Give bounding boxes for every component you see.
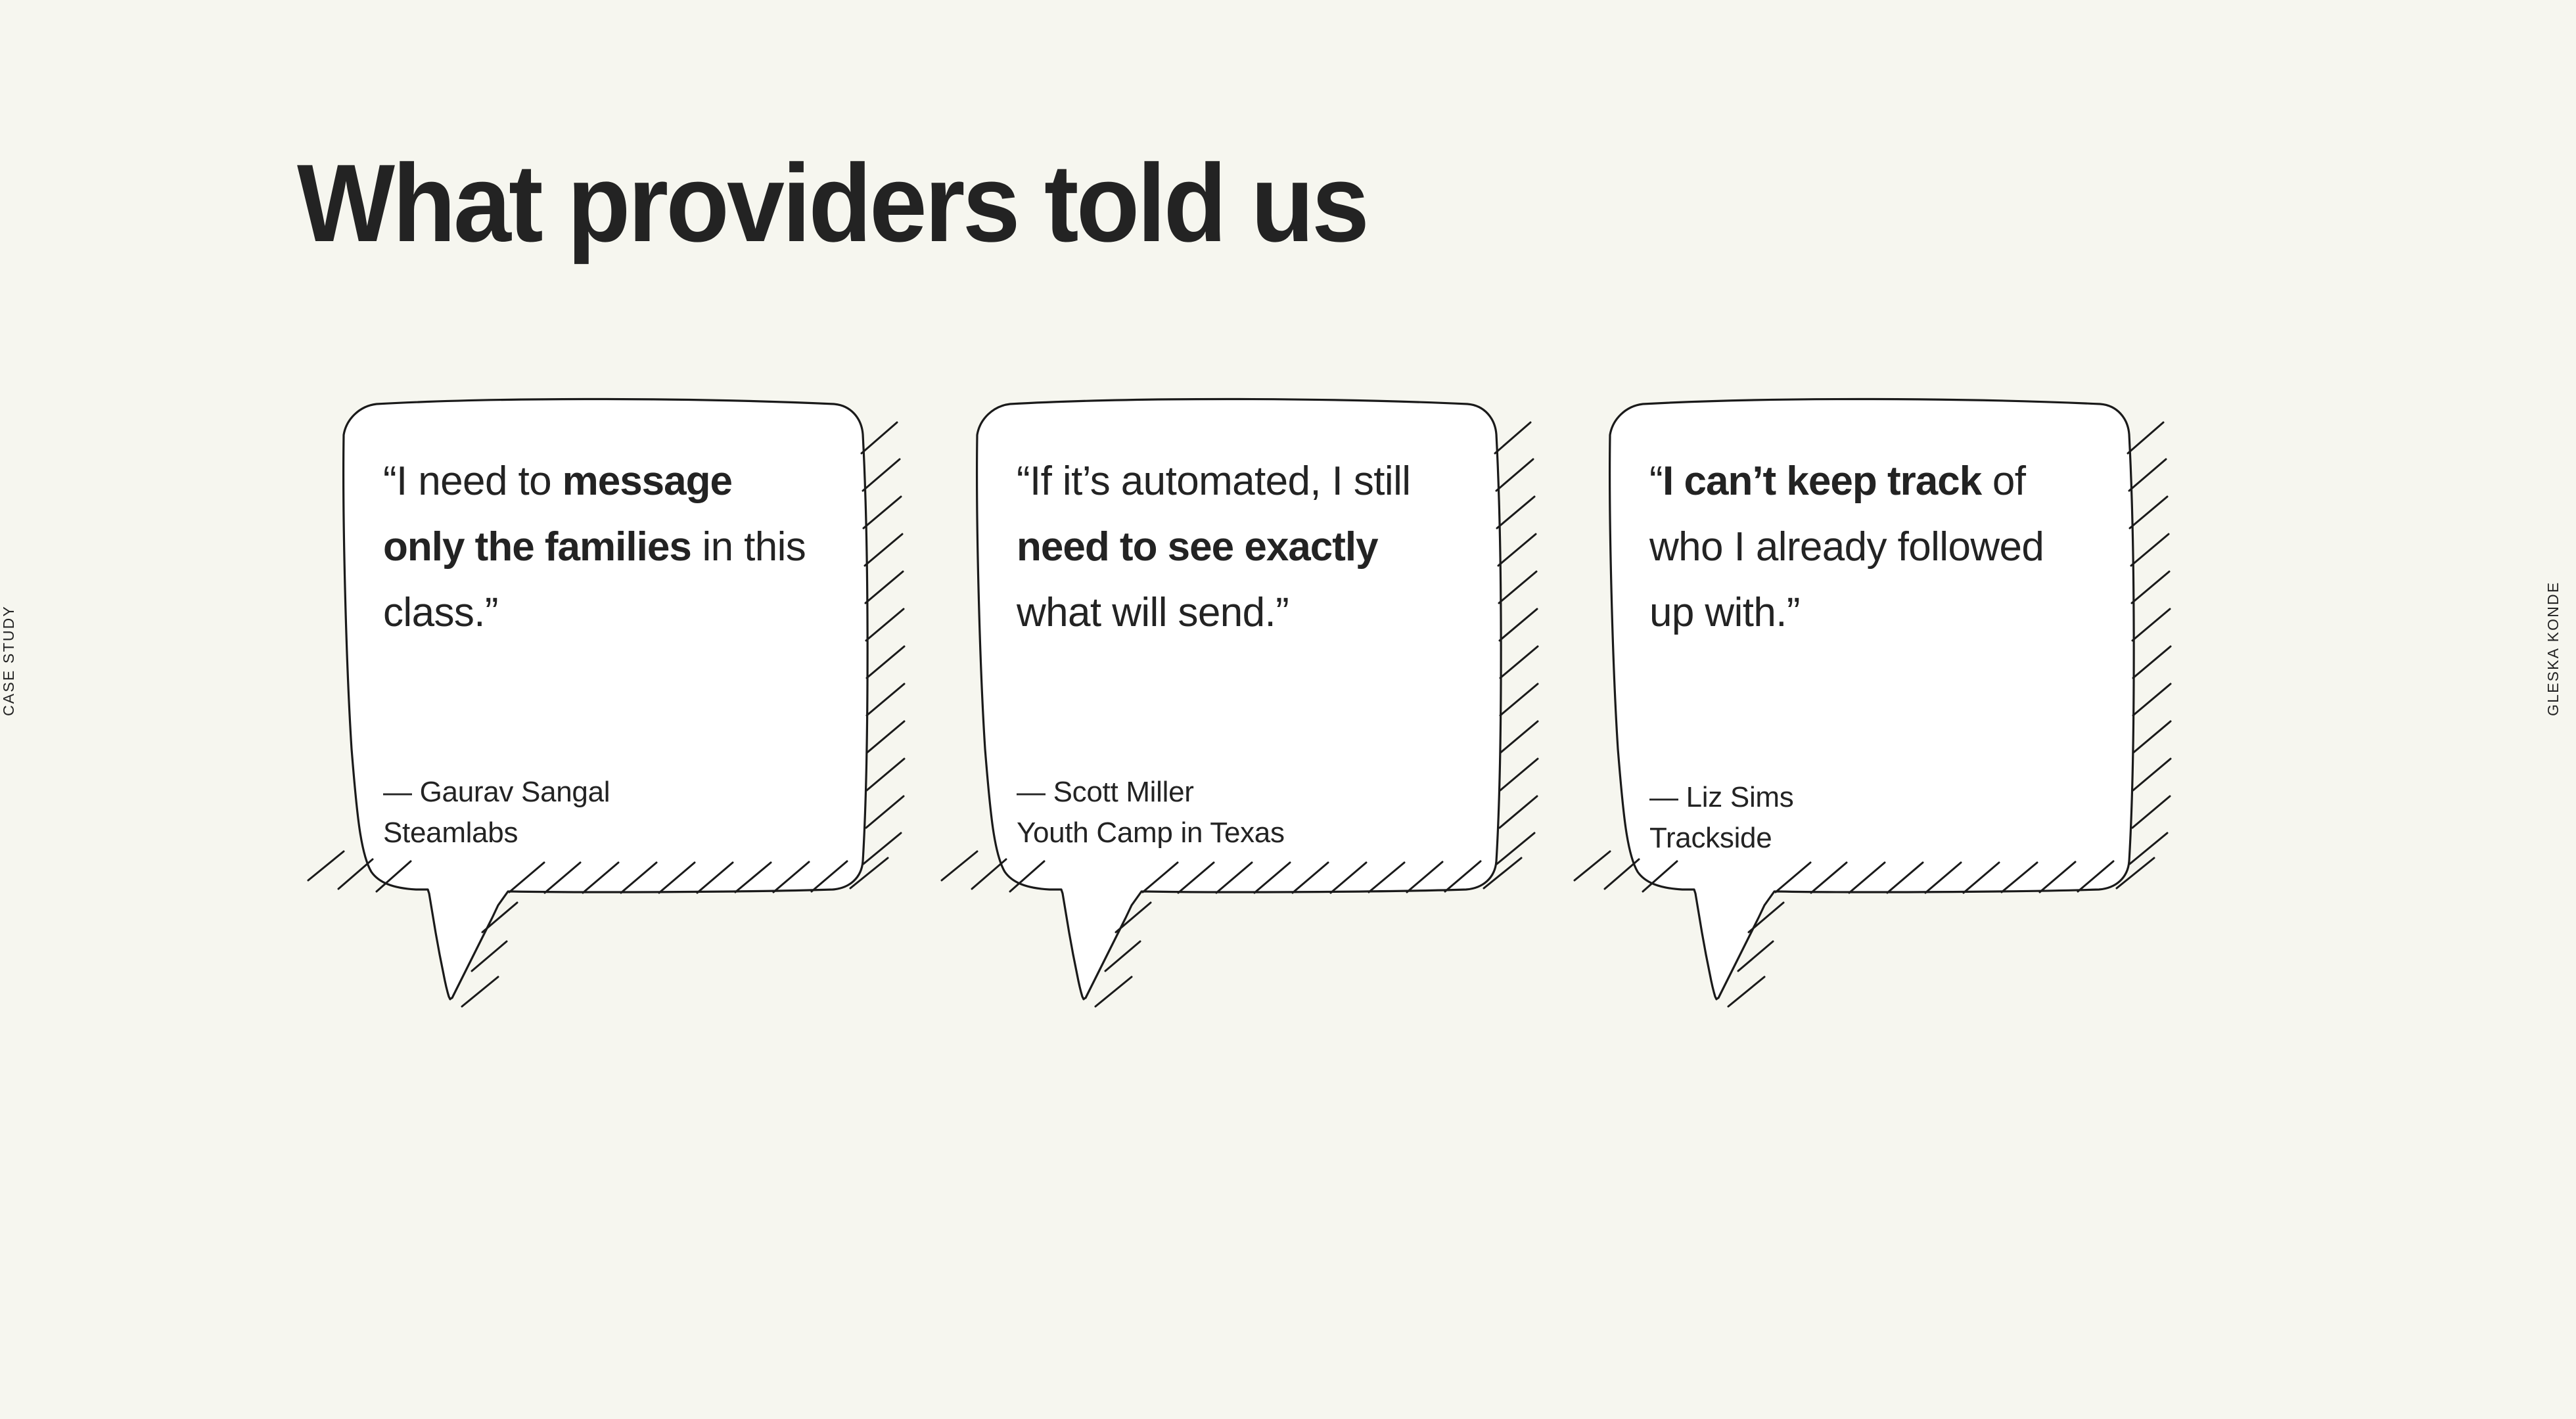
- quote-organization: Trackside: [1649, 818, 1793, 859]
- quote-author: — Gaurav Sangal: [383, 772, 610, 813]
- quote-attribution: — Liz Sims Trackside: [1649, 777, 1793, 859]
- quote-text: “I need to message only the families in …: [383, 449, 823, 646]
- quote-organization: Youth Camp in Texas: [1017, 813, 1285, 853]
- quote-organization: Steamlabs: [383, 813, 610, 853]
- quote-author: — Scott Miller: [1017, 772, 1285, 813]
- quote-bubble: “I can’t keep track of who I already fol…: [1610, 397, 2129, 910]
- quote-attribution: — Scott Miller Youth Camp in Texas: [1017, 772, 1285, 853]
- quote-text: “If it’s automated, I still need to see …: [1017, 449, 1457, 646]
- quote-bubble-group: “I need to message only the families in …: [0, 0, 2576, 1419]
- quote-bubble: “I need to message only the families in …: [344, 397, 863, 910]
- quote-bubble: “If it’s automated, I still need to see …: [977, 397, 1496, 910]
- quote-author: — Liz Sims: [1649, 777, 1793, 818]
- quote-text: “I can’t keep track of who I already fol…: [1649, 449, 2090, 646]
- quote-attribution: — Gaurav Sangal Steamlabs: [383, 772, 610, 853]
